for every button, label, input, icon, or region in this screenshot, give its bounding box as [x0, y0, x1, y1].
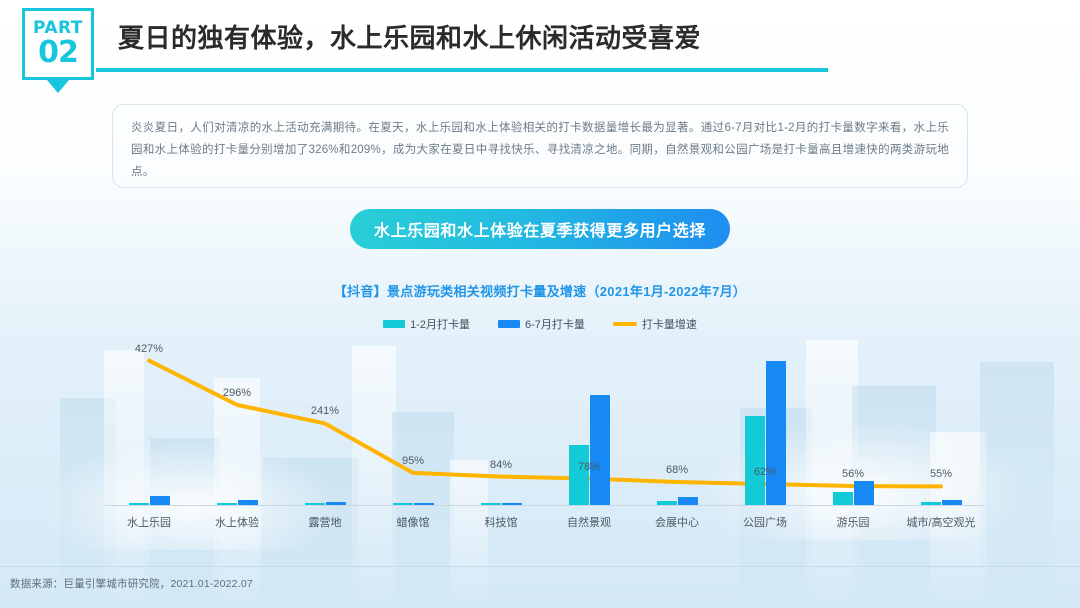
- chart-bar-group: [281, 340, 369, 505]
- bar-pair: [105, 340, 193, 505]
- footer-divider: [0, 566, 1080, 567]
- chart-bar: [590, 395, 610, 505]
- line-value-label: 62%: [721, 466, 809, 478]
- x-axis-label: 会展中心: [629, 514, 725, 530]
- chart-bar: [833, 492, 853, 505]
- bar-pair: [809, 340, 897, 505]
- bar-pair: [281, 340, 369, 505]
- x-axis-label: 水上体验: [189, 514, 285, 530]
- chart-title: 【抖音】景点游玩类相关视频打卡量及增速（2021年1月-2022年7月）: [0, 281, 1080, 300]
- x-axis-label: 游乐园: [805, 514, 901, 530]
- x-axis-label: 公园广场: [717, 514, 813, 530]
- legend-item: 6-7月打卡量: [498, 316, 585, 332]
- legend-label: 1-2月打卡量: [410, 316, 470, 332]
- legend-swatch-icon: [383, 320, 405, 328]
- legend-item: 打卡量增速: [613, 316, 697, 332]
- x-axis-label: 蜡像馆: [365, 514, 461, 530]
- line-value-label: 241%: [281, 405, 369, 417]
- x-axis-label: 城市/高空观光: [893, 514, 989, 530]
- legend-swatch-icon: [498, 320, 520, 328]
- line-value-label: 68%: [633, 464, 721, 476]
- line-value-label: 427%: [105, 343, 193, 355]
- chart-bar-group: [545, 340, 633, 505]
- chart-bar-group: [105, 340, 193, 505]
- chart-bar-group: [369, 340, 457, 505]
- data-source-note: 数据来源：巨量引擎城市研究院，2021.01-2022.07: [10, 576, 253, 591]
- chart-x-axis: [105, 505, 985, 506]
- chart-bar: [854, 481, 874, 505]
- chart-plot-area: 427%296%241%95%84%78%68%62%56%55%: [105, 340, 985, 505]
- page-title: 夏日的独有体验，水上乐园和水上休闲活动受喜爱: [118, 18, 701, 55]
- line-value-label: 78%: [545, 461, 633, 473]
- chart-bar-group: [721, 340, 809, 505]
- bar-pair: [545, 340, 633, 505]
- line-value-label: 296%: [193, 387, 281, 399]
- highlight-pill: 水上乐园和水上体验在夏季获得更多用户选择: [350, 209, 730, 249]
- description-card: 炎炎夏日，人们对清凉的水上活动充满期待。在夏天，水上乐园和水上体验相关的打卡数据…: [112, 104, 968, 188]
- bar-pair: [633, 340, 721, 505]
- legend-item: 1-2月打卡量: [383, 316, 470, 332]
- bar-pair: [193, 340, 281, 505]
- line-value-label: 55%: [897, 468, 985, 480]
- chart-bar-group: [809, 340, 897, 505]
- header-divider: [96, 68, 828, 72]
- x-axis-label: 自然景观: [541, 514, 637, 530]
- chart-x-axis-labels: 水上乐园水上体验露营地蜡像馆科技馆自然景观会展中心公园广场游乐园城市/高空观光: [105, 510, 985, 534]
- legend-label: 6-7月打卡量: [525, 316, 585, 332]
- legend-line-icon: [613, 322, 637, 326]
- chart-bar-group: [193, 340, 281, 505]
- slide-canvas: PART 02 夏日的独有体验，水上乐园和水上休闲活动受喜爱 炎炎夏日，人们对清…: [0, 0, 1080, 608]
- slide-header: PART 02 夏日的独有体验，水上乐园和水上休闲活动受喜爱: [0, 0, 1080, 96]
- chart-bar-group: [457, 340, 545, 505]
- bar-pair: [369, 340, 457, 505]
- badge-pointer-icon: [47, 80, 69, 93]
- description-text: 炎炎夏日，人们对清凉的水上活动充满期待。在夏天，水上乐园和水上体验相关的打卡数据…: [131, 117, 949, 183]
- x-axis-label: 水上乐园: [101, 514, 197, 530]
- line-value-label: 95%: [369, 455, 457, 467]
- chart-bar: [766, 361, 786, 505]
- chart-bar: [150, 496, 170, 505]
- bar-pair: [721, 340, 809, 505]
- chart-legend: 1-2月打卡量6-7月打卡量打卡量增速: [0, 316, 1080, 332]
- part-badge: PART 02: [22, 8, 94, 80]
- chart-bar: [678, 497, 698, 505]
- line-value-label: 56%: [809, 468, 897, 480]
- x-axis-label: 科技馆: [453, 514, 549, 530]
- bar-pair: [457, 340, 545, 505]
- line-value-label: 84%: [457, 459, 545, 471]
- chart-bar-group: [633, 340, 721, 505]
- x-axis-label: 露营地: [277, 514, 373, 530]
- highlight-pill-label: 水上乐园和水上体验在夏季获得更多用户选择: [374, 217, 706, 241]
- part-badge-number: 02: [38, 38, 78, 68]
- chart-bar: [569, 445, 589, 505]
- legend-label: 打卡量增速: [642, 316, 697, 332]
- chart-bar: [745, 416, 765, 505]
